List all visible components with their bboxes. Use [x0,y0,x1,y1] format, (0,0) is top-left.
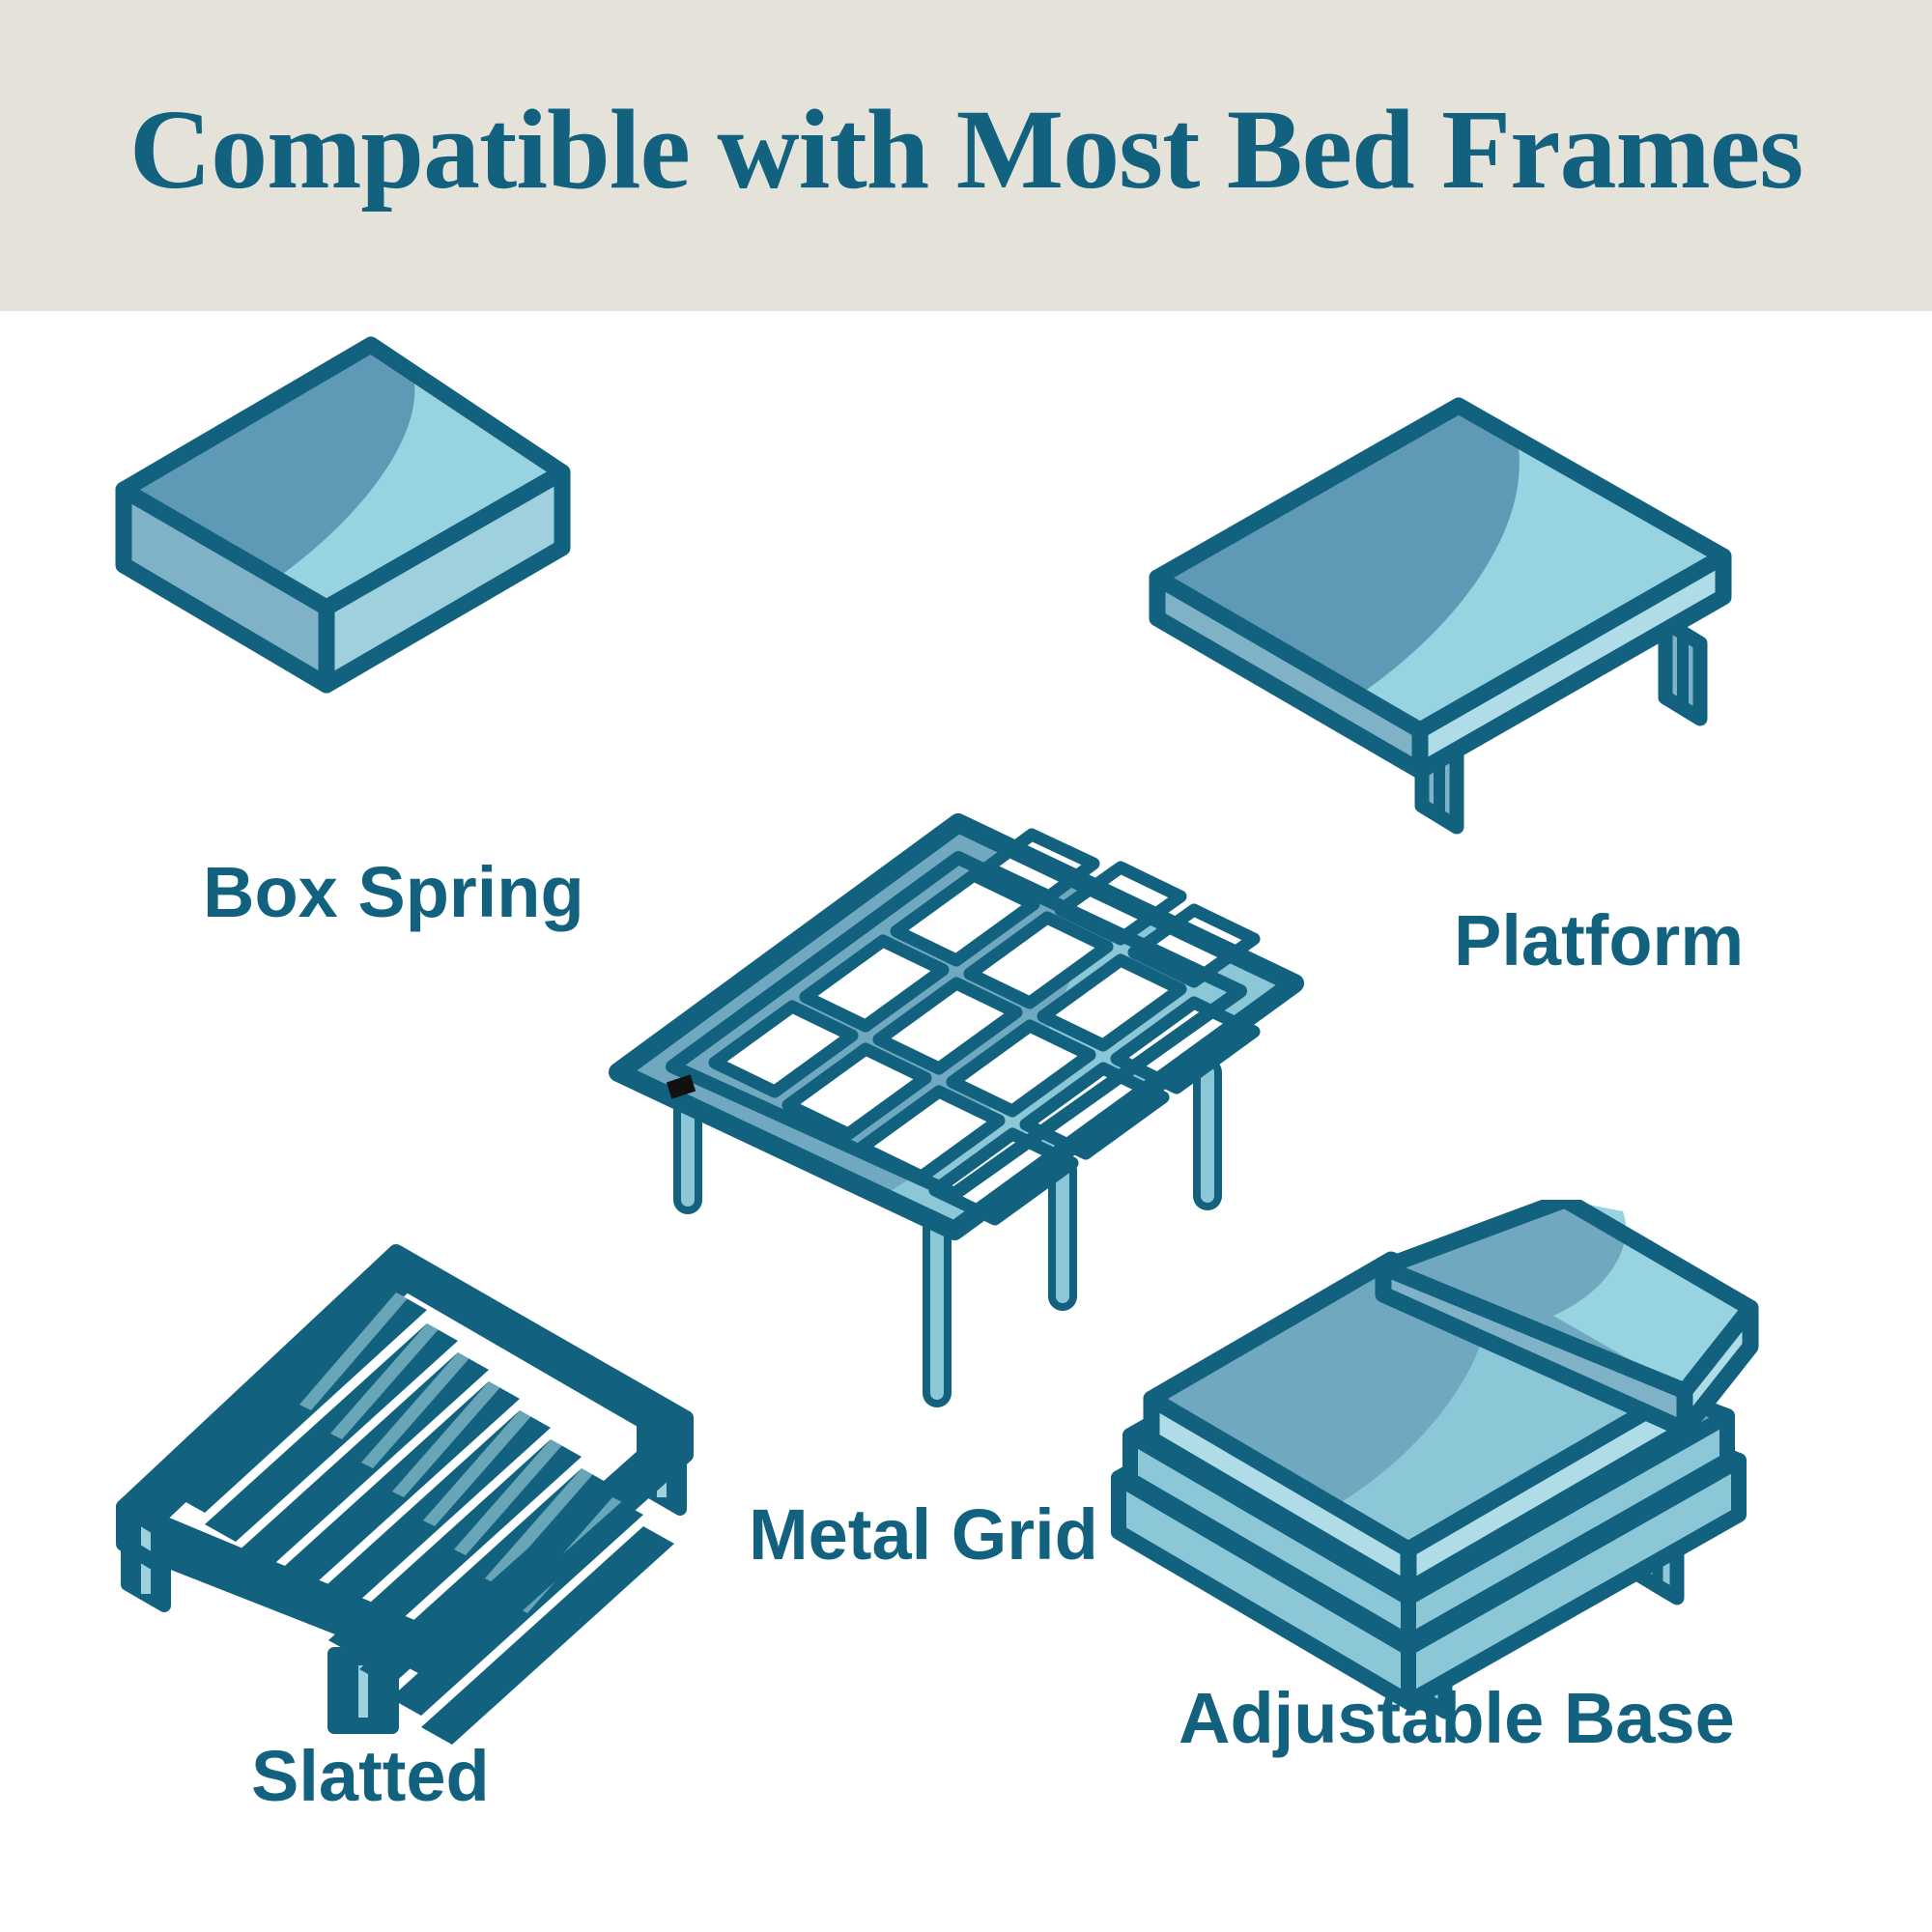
slatted-icon [106,1238,744,1818]
header-bar: Compatible with Most Bed Frames [0,0,1932,311]
illustration-grid: Box Spring Plat [0,311,1932,1932]
figure-slatted: Slatted [106,1238,744,1895]
figure-label-slatted: Slatted [251,1741,490,1812]
figure-adjustable-base: Adjustable Base [1101,1200,1797,1895]
figure-label-platform: Platform [1454,905,1744,977]
figure-label-box-spring: Box Spring [203,857,584,928]
figure-label-metal-grid: Metal Grid [749,1499,1098,1571]
figure-label-adjustable-base: Adjustable Base [1179,1683,1735,1754]
box-spring-icon [106,316,724,857]
page-title: Compatible with Most Bed Frames [129,93,1803,207]
